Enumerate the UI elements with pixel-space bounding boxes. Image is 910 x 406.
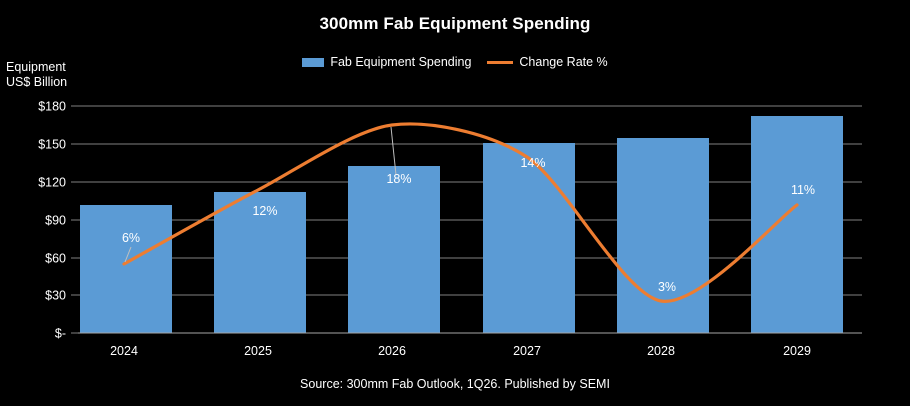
y-axis-tick-label: $-	[55, 327, 66, 341]
x-axis-tick-label: 2026	[378, 344, 406, 358]
bar[interactable]	[483, 143, 575, 333]
source-note: Source: 300mm Fab Outlook, 1Q26. Publish…	[0, 377, 910, 391]
x-axis-tick-label: 2025	[244, 344, 272, 358]
x-axis-tick-label: 2028	[647, 344, 675, 358]
chart-container: 300mm Fab Equipment Spending Fab Equipme…	[0, 0, 910, 406]
data-label: 18%	[386, 172, 411, 186]
y-axis-tick-label: $90	[45, 214, 66, 228]
y-axis-tick-label: $180	[38, 100, 66, 114]
data-label: 6%	[122, 231, 140, 245]
y-axis-ticks	[71, 106, 78, 333]
y-axis-tick-label: $150	[38, 138, 66, 152]
data-label: 14%	[520, 156, 545, 170]
data-label: 11%	[791, 183, 815, 197]
y-axis-tick-label: $30	[45, 289, 66, 303]
plot-area: $180$150$120$90$60$30$- 6%12%18%14%3%11%…	[0, 0, 910, 406]
gridlines	[78, 106, 862, 333]
x-axis-tick-labels: 202420252026202720282029	[110, 344, 811, 358]
bar[interactable]	[617, 138, 709, 333]
data-label: 12%	[252, 204, 277, 218]
bar[interactable]	[348, 166, 440, 333]
y-axis-tick-label: $120	[38, 176, 66, 190]
bar[interactable]	[751, 116, 843, 333]
bar[interactable]	[80, 205, 172, 333]
y-axis-tick-labels: $180$150$120$90$60$30$-	[38, 100, 66, 341]
y-axis-tick-label: $60	[45, 252, 66, 266]
x-axis-tick-label: 2024	[110, 344, 138, 358]
x-axis-tick-label: 2029	[783, 344, 811, 358]
x-axis-tick-label: 2027	[513, 344, 541, 358]
data-label: 3%	[658, 280, 676, 294]
